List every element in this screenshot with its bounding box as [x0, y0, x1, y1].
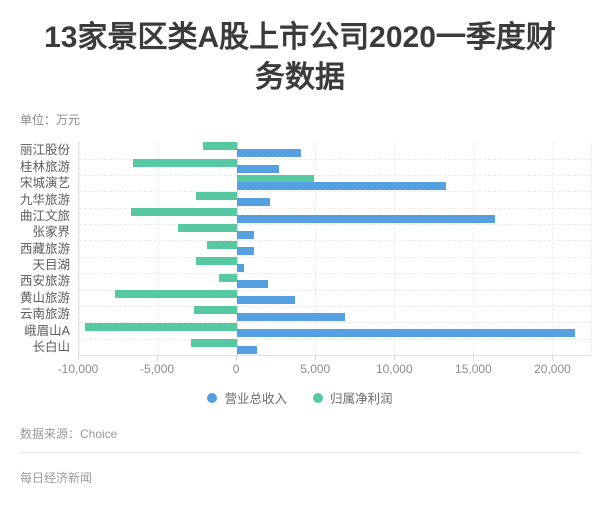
legend-swatch-icon: [207, 393, 217, 403]
bar-revenue: [237, 329, 576, 337]
bar-profit: [85, 323, 236, 331]
value-axis: -10,000-5,00005,00010,00015,00020,000: [78, 355, 592, 385]
axis-tick-label: 20,000: [534, 362, 571, 376]
category-label: 九华旅游: [20, 193, 70, 206]
chart-legend: 营业总收入归属净利润: [0, 388, 600, 407]
gridline-horizontal: [79, 306, 591, 307]
category-label: 桂林旅游: [20, 161, 70, 174]
bar-revenue: [237, 264, 245, 272]
bar-profit: [191, 339, 237, 347]
axis-tick-label: 15,000: [455, 362, 492, 376]
axis-tick: [394, 355, 395, 360]
legend-label: 营业总收入: [224, 388, 287, 407]
axis-tick: [473, 355, 474, 360]
category-label: 丽江股份: [20, 144, 70, 157]
bar-revenue: [237, 198, 270, 206]
bar-profit: [178, 224, 236, 232]
publisher-name: 每日经济新闻: [20, 453, 580, 486]
legend-swatch-icon: [313, 393, 323, 403]
category-label: 云南旅游: [20, 308, 70, 321]
category-label: 张家界: [32, 226, 70, 239]
legend-item[interactable]: 营业总收入: [207, 388, 287, 407]
axis-tick: [157, 355, 158, 360]
bar-revenue: [237, 247, 254, 255]
bar-revenue: [237, 165, 280, 173]
axis-line: [78, 355, 592, 356]
bar-profit: [133, 159, 237, 167]
category-axis: 丽江股份桂林旅游宋城演艺九华旅游曲江文旅张家界西藏旅游天目湖西安旅游黄山旅游云南…: [0, 142, 74, 355]
gridline-horizontal: [79, 240, 591, 241]
bar-profit: [115, 290, 236, 298]
bar-profit: [196, 257, 237, 265]
bar-profit: [203, 142, 236, 150]
axis-tick: [552, 355, 553, 360]
axis-tick-label: 0: [233, 362, 240, 376]
axis-tick-label: -10,000: [58, 362, 99, 376]
bar-profit: [131, 208, 237, 216]
category-label: 峨眉山A: [24, 324, 70, 337]
bar-revenue: [237, 182, 447, 190]
page-title: 13家景区类A股上市公司2020一季度财务数据: [0, 0, 600, 97]
category-label: 天目湖: [32, 259, 70, 272]
axis-tick-label: 5,000: [300, 362, 330, 376]
gridline-horizontal: [79, 273, 591, 274]
bar-revenue: [237, 346, 257, 354]
category-label: 曲江文旅: [20, 210, 70, 223]
category-label: 黄山旅游: [20, 292, 70, 305]
axis-tick-label: 10,000: [376, 362, 413, 376]
bar-profit: [194, 306, 237, 314]
bar-revenue: [237, 296, 295, 304]
bar-revenue: [237, 313, 346, 321]
bar-profit: [196, 192, 237, 200]
bar-revenue: [237, 231, 254, 239]
bar-profit: [219, 274, 236, 282]
chart-page: 13家景区类A股上市公司2020一季度财务数据 单位：万元 丽江股份桂林旅游宋城…: [0, 0, 600, 510]
axis-tick-label: -5,000: [140, 362, 174, 376]
category-label: 长白山: [32, 341, 70, 354]
axis-tick: [236, 355, 237, 360]
bar-revenue: [237, 215, 495, 223]
gridline-horizontal: [79, 191, 591, 192]
legend-item[interactable]: 归属净利润: [313, 388, 393, 407]
plot-area: [78, 142, 592, 355]
axis-tick: [78, 355, 79, 360]
legend-label: 归属净利润: [330, 388, 393, 407]
category-label: 宋城演艺: [20, 177, 70, 190]
gridline-horizontal: [79, 175, 591, 176]
category-label: 西藏旅游: [20, 242, 70, 255]
footer: 数据来源：Choice 每日经济新闻: [0, 425, 600, 486]
bar-profit: [207, 241, 237, 249]
unit-note: 单位：万元: [0, 97, 600, 128]
gridline-horizontal: [79, 339, 591, 340]
gridline-horizontal: [79, 224, 591, 225]
bar-chart: 丽江股份桂林旅游宋城演艺九华旅游曲江文旅张家界西藏旅游天目湖西安旅游黄山旅游云南…: [0, 134, 600, 382]
data-source: 数据来源：Choice: [20, 425, 580, 452]
category-label: 西安旅游: [20, 275, 70, 288]
bar-revenue: [237, 280, 269, 288]
gridline-horizontal: [79, 257, 591, 258]
bar-revenue: [237, 149, 302, 157]
axis-tick: [315, 355, 316, 360]
